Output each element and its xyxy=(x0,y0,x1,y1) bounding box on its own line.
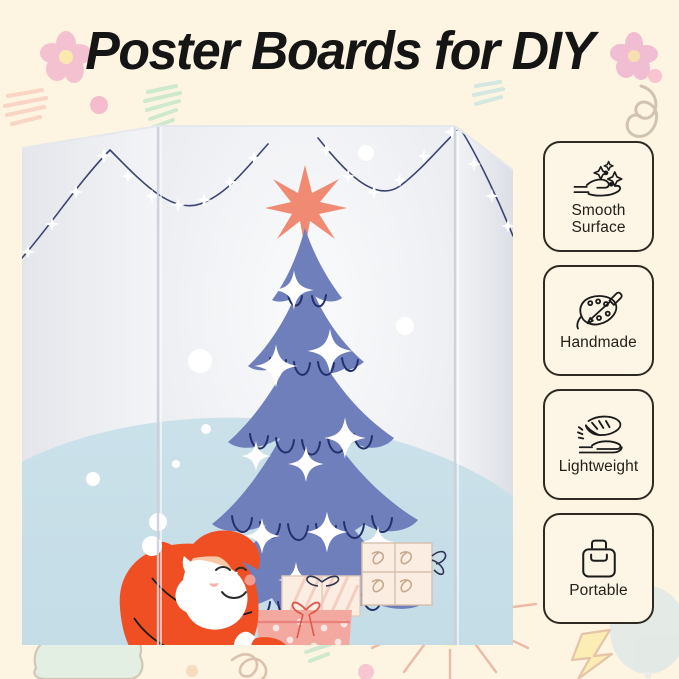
paint-palette-icon xyxy=(571,290,627,332)
pink-blob-doodle-3 xyxy=(358,664,374,679)
feature-badge-lightweight[interactable]: Lightweight xyxy=(543,389,654,500)
feature-badge-label: Handmade xyxy=(560,334,637,351)
feature-badge-label: Lightweight xyxy=(559,458,639,475)
feather-hand-icon xyxy=(571,414,627,456)
page-title: Poster Boards for DIY xyxy=(14,20,666,82)
sparkle-hand-icon xyxy=(571,158,627,200)
curly-swirl-doodle xyxy=(627,86,656,136)
curly-swirl-doodle-bottom xyxy=(232,654,266,679)
lightning-bolt-doodle xyxy=(572,630,612,679)
pink-blob-doodle-4 xyxy=(186,665,198,677)
feature-badge-portable[interactable]: Portable xyxy=(543,513,654,624)
feature-badge-list: Smooth Surface Handmade xyxy=(543,141,658,637)
product-listing-image: Poster Boards for DIY xyxy=(0,0,679,679)
feature-badge-label: Smooth Surface xyxy=(571,202,625,236)
briefcase-icon xyxy=(571,538,627,580)
feature-badge-smooth-surface[interactable]: Smooth Surface xyxy=(543,141,654,252)
poster-board-product xyxy=(0,108,520,654)
feature-badge-label: Portable xyxy=(569,582,628,599)
gift-box-polka-dot xyxy=(256,603,352,654)
cyan-scribble-doodle xyxy=(474,82,503,104)
feature-badge-handmade[interactable]: Handmade xyxy=(543,265,654,376)
